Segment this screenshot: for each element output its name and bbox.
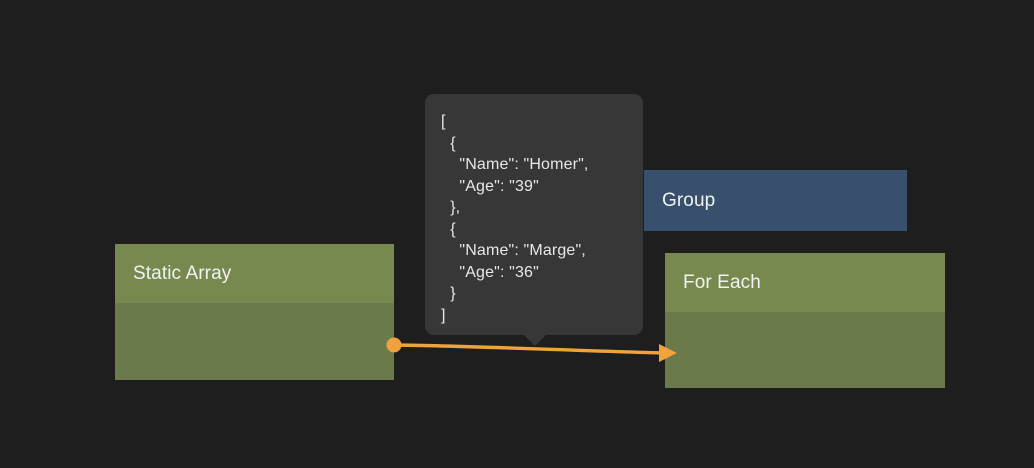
flow-canvas[interactable]: Static Array Items Group For Each Items bbox=[0, 0, 1034, 468]
node-group-header[interactable]: Group bbox=[644, 170, 907, 231]
node-for-each[interactable]: For Each Items bbox=[665, 253, 945, 388]
node-static-array-header[interactable]: Static Array bbox=[115, 244, 394, 303]
node-static-array-title: Static Array bbox=[133, 263, 231, 285]
connection-edge-path[interactable] bbox=[394, 345, 666, 353]
tooltip-pointer-icon bbox=[523, 334, 547, 346]
node-static-array[interactable]: Static Array Items bbox=[115, 244, 394, 380]
node-for-each-body: Items bbox=[665, 312, 945, 388]
node-group-title: Group bbox=[662, 190, 715, 212]
json-preview-tooltip: [ { "Name": "Homer", "Age": "39" }, { "N… bbox=[425, 94, 643, 335]
json-preview-content: [ { "Name": "Homer", "Age": "39" }, { "N… bbox=[441, 111, 629, 326]
node-for-each-title: For Each bbox=[683, 272, 761, 294]
node-group[interactable]: Group bbox=[644, 170, 907, 231]
node-for-each-header[interactable]: For Each bbox=[665, 253, 945, 312]
node-static-array-body: Items bbox=[115, 303, 394, 380]
